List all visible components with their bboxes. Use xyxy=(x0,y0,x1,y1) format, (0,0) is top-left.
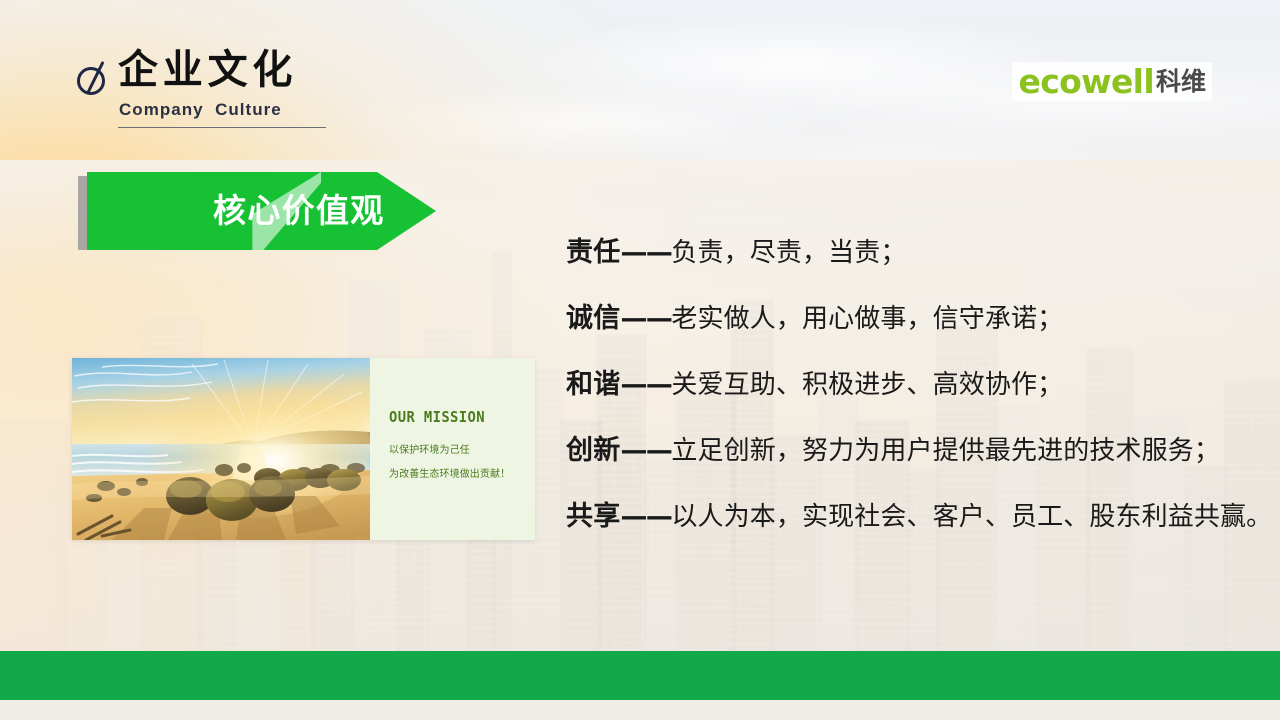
value-key-1: 诚信 xyxy=(566,303,621,334)
value-key-4: 共享 xyxy=(566,501,621,532)
mission-line-2: 为改善生态环境做出贡献！ xyxy=(389,470,535,480)
value-item-0: 责任——负责，尽责，当责； xyxy=(566,232,1266,277)
value-desc-2: 关爱互助、积极进步、高效协作； xyxy=(671,370,1063,400)
mission-heading: OUR MISSION xyxy=(389,410,523,425)
footer-base-strip xyxy=(0,700,1280,720)
value-key-3: 创新 xyxy=(566,435,621,466)
value-desc-3: 立足创新，努力为用户提供最先进的技术服务； xyxy=(671,436,1220,466)
core-values-banner: 核心价值观 xyxy=(78,172,436,250)
value-key-0: 责任 xyxy=(566,237,621,268)
value-dash-4: —— xyxy=(621,501,672,532)
value-dash-3: —— xyxy=(621,435,672,466)
banner-left-shadow-bar xyxy=(78,176,87,250)
value-key-2: 和谐 xyxy=(566,369,621,400)
mission-card: OUR MISSION 以保护环境为己任 为改善生态环境做出贡献！ xyxy=(72,358,535,540)
value-dash-1: —— xyxy=(621,303,672,334)
slide-header: 企业文化 Company Culture ecowell 科维 xyxy=(0,0,1280,150)
mission-text-panel: OUR MISSION 以保护环境为己任 为改善生态环境做出贡献！ xyxy=(370,358,535,540)
value-desc-1: 老实做人，用心做事，信守承诺； xyxy=(671,304,1063,334)
sunset-beach-boulders-photo xyxy=(72,358,370,540)
value-item-4: 共享——以人为本，实现社会、客户、员工、股东利益共赢。 xyxy=(566,496,1266,541)
brand-logo-text-cn: 科维 xyxy=(1156,69,1206,94)
core-values-list: 责任——负责，尽责，当责； 诚信——老实做人，用心做事，信守承诺； 和谐——关爱… xyxy=(566,232,1266,541)
value-item-1: 诚信——老实做人，用心做事，信守承诺； xyxy=(566,298,1266,343)
value-item-3: 创新——立足创新，努力为用户提供最先进的技术服务； xyxy=(566,430,1266,475)
value-item-2: 和谐——关爱互助、积极进步、高效协作； xyxy=(566,364,1266,409)
slide-canvas: 企业文化 Company Culture ecowell 科维 核心价值观 xyxy=(0,0,1280,720)
title-underline xyxy=(118,127,326,128)
page-title-zh: 企业文化 xyxy=(118,50,297,90)
banner-label: 核心价值观 xyxy=(213,188,385,234)
value-desc-4: 以人为本，实现社会、客户、员工、股东利益共赢。 xyxy=(671,502,1272,532)
brand-logo-text: ecowell xyxy=(1018,65,1154,98)
mission-line-1: 以保护环境为己任 xyxy=(389,446,535,456)
footer-green-bar xyxy=(0,651,1280,700)
brand-logo: ecowell 科维 xyxy=(1012,62,1212,101)
slashed-circle-icon xyxy=(76,58,110,98)
value-desc-0: 负责，尽责，当责； xyxy=(671,238,906,268)
page-title-en: Company Culture xyxy=(119,100,282,120)
value-dash-0: —— xyxy=(621,237,672,268)
value-dash-2: —— xyxy=(621,369,672,400)
